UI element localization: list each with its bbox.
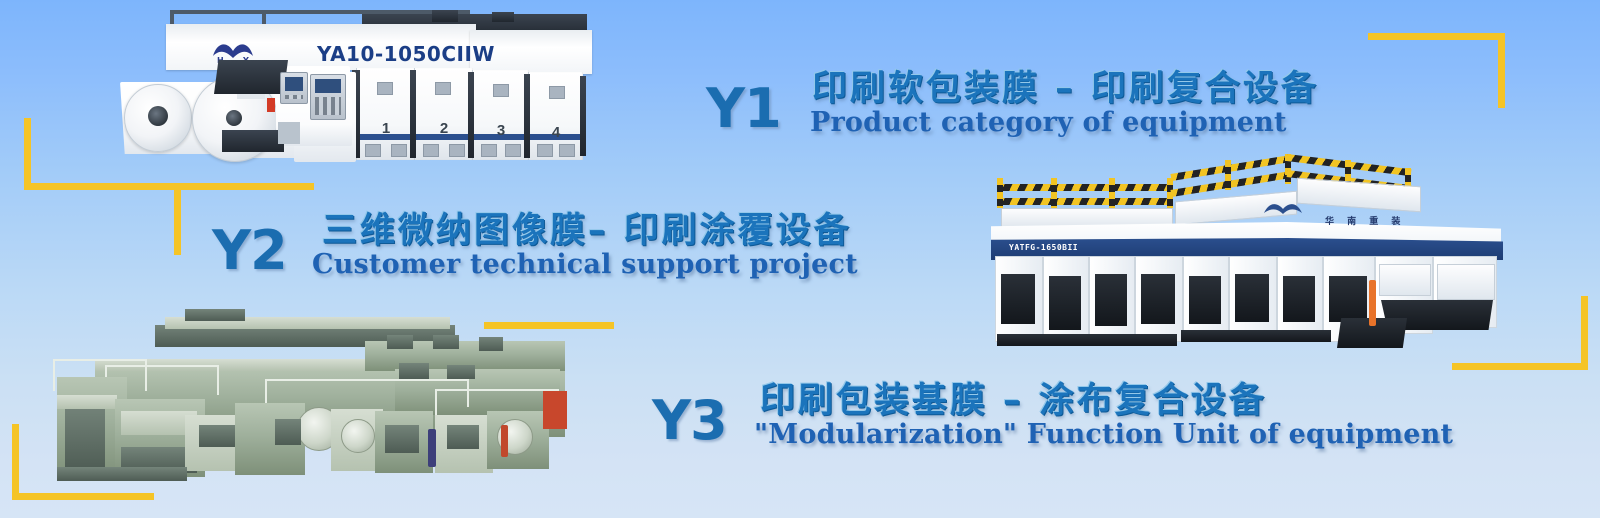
entry-y1-id: Y1 — [706, 82, 781, 136]
orange-cable — [1369, 280, 1376, 326]
entry-y1-title: 印刷软包装膜 – 印刷复合设备 — [812, 70, 1319, 109]
bracket-y1-top-right — [1368, 33, 1505, 108]
worker-figure — [428, 429, 436, 467]
printing-press-photo: H Y YA10-1050CIIW 1 2 3 — [62, 10, 592, 175]
control-panel — [310, 74, 346, 120]
entry-y3-title: 印刷包装基膜 – 涂布复合设备 — [760, 382, 1267, 421]
laminator-photo: YATFG-1650BII 华 南 重 装 — [985, 152, 1530, 374]
laminator-model-label: YATFG-1650BII — [1009, 243, 1078, 252]
entry-y2-title: 三维微纳图像膜– 印刷涂覆设备 — [322, 212, 852, 251]
promo-banner: H Y YA10-1050CIIW 1 2 3 — [0, 0, 1600, 518]
entry-y3-id: Y3 — [652, 394, 727, 448]
coating-line-photo — [35, 307, 575, 482]
entry-y3-subtitle: "Modularization" Function Unit of equipm… — [754, 420, 1453, 450]
laminator-brand-text: 华 南 重 装 — [1325, 214, 1405, 227]
laminator-logo-icon — [1261, 200, 1305, 216]
entry-y2-id: Y2 — [212, 224, 287, 278]
worker-figure — [501, 425, 508, 457]
entry-y1-subtitle: Product category of equipment — [810, 108, 1287, 138]
entry-y2-subtitle: Customer technical support project — [312, 250, 858, 280]
press-model-label: YA10-1050CIIW — [317, 42, 495, 66]
